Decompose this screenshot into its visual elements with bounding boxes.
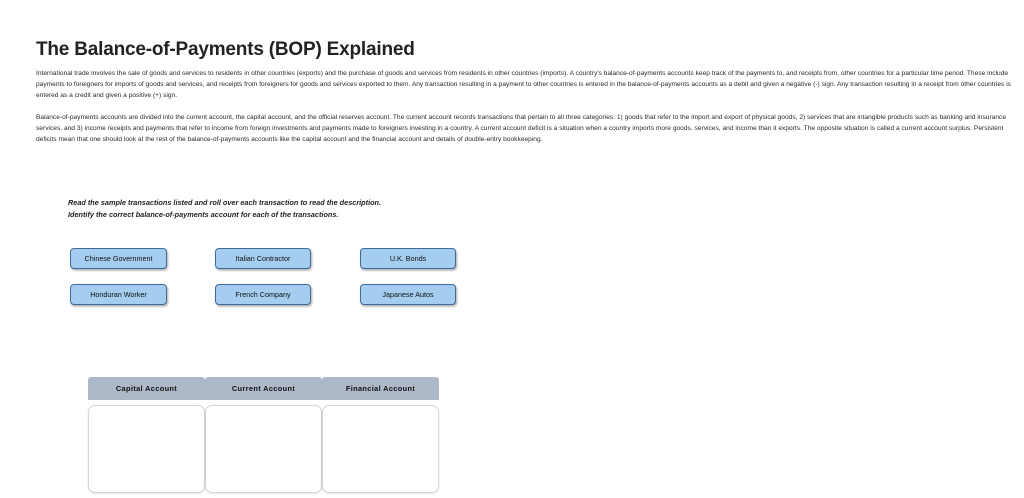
intro-paragraph-1: International trade involves the sale of… xyxy=(36,68,1012,101)
transaction-button-french-company[interactable]: French Company xyxy=(215,284,311,305)
transaction-column-3: U.K. Bonds Japanese Autos xyxy=(360,248,456,320)
account-dropzone-financial[interactable] xyxy=(322,405,439,493)
account-header-current: Current Account xyxy=(205,377,322,400)
page-title: The Balance-of-Payments (BOP) Explained xyxy=(36,40,415,61)
transaction-column-2: Italian Contractor French Company xyxy=(215,248,311,320)
transaction-button-japanese-autos[interactable]: Japanese Autos xyxy=(360,284,456,305)
transaction-column-1: Chinese Government Honduran Worker xyxy=(70,248,167,320)
intro-text-block: International trade involves the sale of… xyxy=(36,68,1012,157)
instructions-line-1: Read the sample transactions listed and … xyxy=(68,197,628,209)
instructions-line-2: Identify the correct balance-of-payments… xyxy=(68,209,628,221)
account-dropzone-capital[interactable] xyxy=(88,405,205,493)
account-header-financial: Financial Account xyxy=(322,377,439,400)
bop-exercise-page: The Balance-of-Payments (BOP) Explained … xyxy=(0,0,1024,498)
account-column-financial: Financial Account xyxy=(322,377,439,493)
transaction-buttons-area: Chinese Government Honduran Worker Itali… xyxy=(0,248,1024,318)
account-header-capital: Capital Account xyxy=(88,377,205,400)
transaction-button-italian-contractor[interactable]: Italian Contractor xyxy=(215,248,311,269)
account-dropzone-current[interactable] xyxy=(205,405,322,493)
intro-paragraph-2: Balance-of-payments accounts are divided… xyxy=(36,112,1012,145)
instructions-block: Read the sample transactions listed and … xyxy=(68,197,628,220)
transaction-button-chinese-government[interactable]: Chinese Government xyxy=(70,248,167,269)
account-column-current: Current Account xyxy=(205,377,322,493)
account-column-capital: Capital Account xyxy=(88,377,205,493)
transaction-button-uk-bonds[interactable]: U.K. Bonds xyxy=(360,248,456,269)
transaction-button-honduran-worker[interactable]: Honduran Worker xyxy=(70,284,167,305)
account-columns-area: Capital Account Current Account Financia… xyxy=(0,377,1024,498)
